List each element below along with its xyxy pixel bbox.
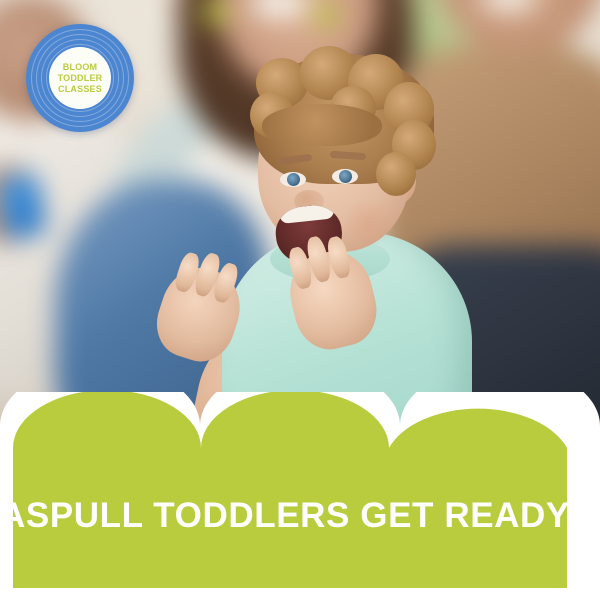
iris (339, 170, 352, 183)
toddler-eye-right (332, 169, 358, 184)
logo-line-1: BLOOM (63, 62, 98, 72)
logo-line-2: TODDLER (58, 73, 103, 83)
toddler-hair-fringe (262, 104, 382, 146)
promo-card: ASPULL TODDLERS GET READY! BLOOM TODDLER… (0, 0, 600, 600)
iris (287, 173, 300, 186)
bloom-toddler-classes-logo[interactable]: BLOOM TODDLER CLASSES (26, 24, 134, 132)
toddler-cheek-highlight (340, 200, 394, 246)
toddler-eye-left (280, 172, 306, 187)
hair-curl (376, 152, 416, 196)
logo-line-3: CLASSES (58, 84, 102, 94)
green-scallop (13, 392, 567, 588)
headline-text: ASPULL TODDLERS GET READY! (0, 495, 600, 537)
badge-inner-circle: BLOOM TODDLER CLASSES (49, 47, 111, 109)
